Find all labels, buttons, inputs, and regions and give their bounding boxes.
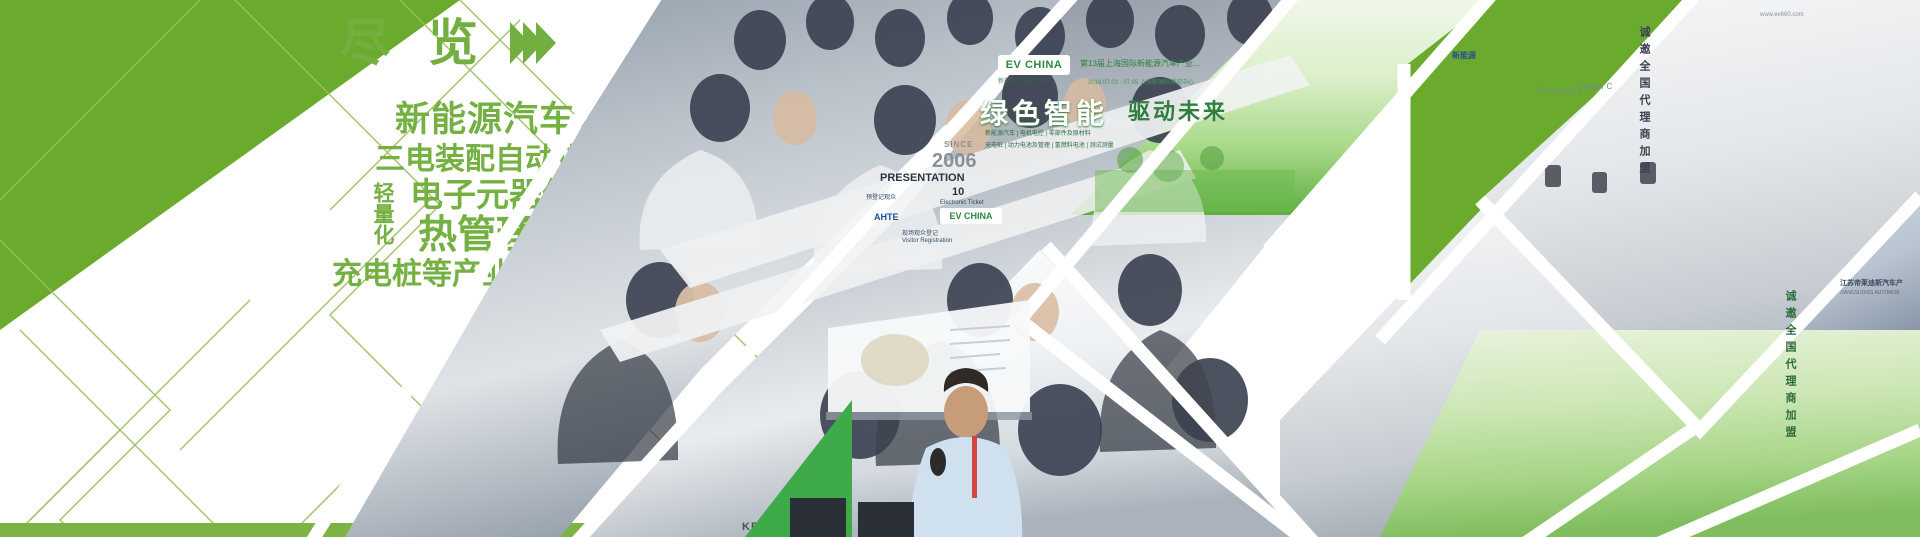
pre-registration-label: 预登记观众	[866, 192, 896, 201]
jiangsu-booth-label: 江苏帝莱迪斯汽车产	[1840, 278, 1903, 288]
keyword-hydrogen-fuel-cell: 氢燃料电池	[600, 183, 626, 343]
page-title: 尽 览	[340, 18, 490, 68]
presentation-number: 10	[952, 186, 964, 198]
photo-tech-screen-booth	[1700, 200, 1920, 537]
booth-headline: 绿色智能	[980, 92, 1108, 132]
ev-china-logo-small: EV CHINA	[940, 208, 1002, 224]
booth-title: 第13届上海国际新能源汽车产业...	[1080, 58, 1200, 69]
photo-charger-display-booth	[1480, 0, 1920, 420]
visitor-registration-label: 现场观众登记	[902, 228, 938, 237]
chevron-group	[510, 22, 556, 64]
keyword-lightweight: 轻量化	[372, 182, 393, 260]
visitor-registration-en-label: Visitor Registration	[902, 238, 952, 244]
keyword-electronic-components: 电子元器件	[410, 178, 575, 211]
dealer-recruitment-vertical-text-2: 诚邀全国代理商加盟	[1782, 290, 1798, 410]
exhibition-banner: 尽 览 新能源汽车电机电控 三电装配自动化 测试测量 轻量化 电子元器件 热管理…	[0, 0, 1920, 537]
booth-date: 2019.07.03 - 07.05 上海新国际博览中心	[1088, 77, 1194, 86]
keyword-new-energy-vehicle-motor-control: 新能源汽车电机电控	[395, 102, 719, 137]
keyword-three-electric-assembly-automation: 三电装配自动化	[375, 145, 585, 175]
photo-dealer-recruitment-booth	[1380, 330, 1920, 537]
electronic-ticket-label: Electronic Ticket	[940, 200, 984, 206]
chevron-right-icon	[536, 22, 556, 64]
since-year: 2006	[932, 150, 977, 173]
kema-logo: KEMA	[742, 521, 778, 533]
keyword-cloud: 尽 览 新能源汽车电机电控 三电装配自动化 测试测量 轻量化 电子元器件 热管理…	[300, 0, 770, 537]
photo-green-hall-overview	[1620, 430, 1920, 537]
photo-conference-speaker	[760, 250, 1310, 537]
charger-label-copper: Copper C	[1578, 82, 1612, 91]
photo-business-meeting-booth	[1280, 200, 1700, 537]
booth-line-1: 新能源汽车 | 电机电控 | 零部件及原材料	[985, 128, 1091, 137]
xinneng-booth-label: 新能源	[1452, 50, 1476, 61]
jiangsu-booth-en-label: JIANGSUDISS AUTOMOB	[1840, 290, 1900, 296]
presentation-label: PRESENTATION	[880, 172, 965, 184]
since-label: SINCE	[944, 140, 973, 149]
booth-line-2: 充电桩 | 动力电池及管理 | 氢燃料电池 | 测试测量	[985, 140, 1114, 149]
dealer-recruitment-vertical-text: 诚邀全国代理商加盟	[1636, 26, 1652, 146]
booth-headline-secondary: 驱动未来	[1128, 94, 1228, 126]
keyword-wiring-harness-and-connectors: 线束与连接器	[562, 182, 589, 367]
photo-green-diamond	[1400, 0, 1700, 300]
charger-label-connector: Connector 2	[1538, 86, 1582, 95]
headline: 尽 览	[340, 18, 556, 68]
ahte-logo: AHTE	[874, 212, 899, 222]
website-label: www.ev660.com	[1760, 12, 1804, 18]
keyword-test-and-measurement: 测试测量	[565, 148, 677, 176]
ev-china-logo-subtitle: 新能源汽车技术展	[998, 76, 1046, 85]
keyword-power-battery: 动力电池	[508, 215, 546, 360]
ev-china-logo: EV CHINA	[998, 55, 1070, 75]
